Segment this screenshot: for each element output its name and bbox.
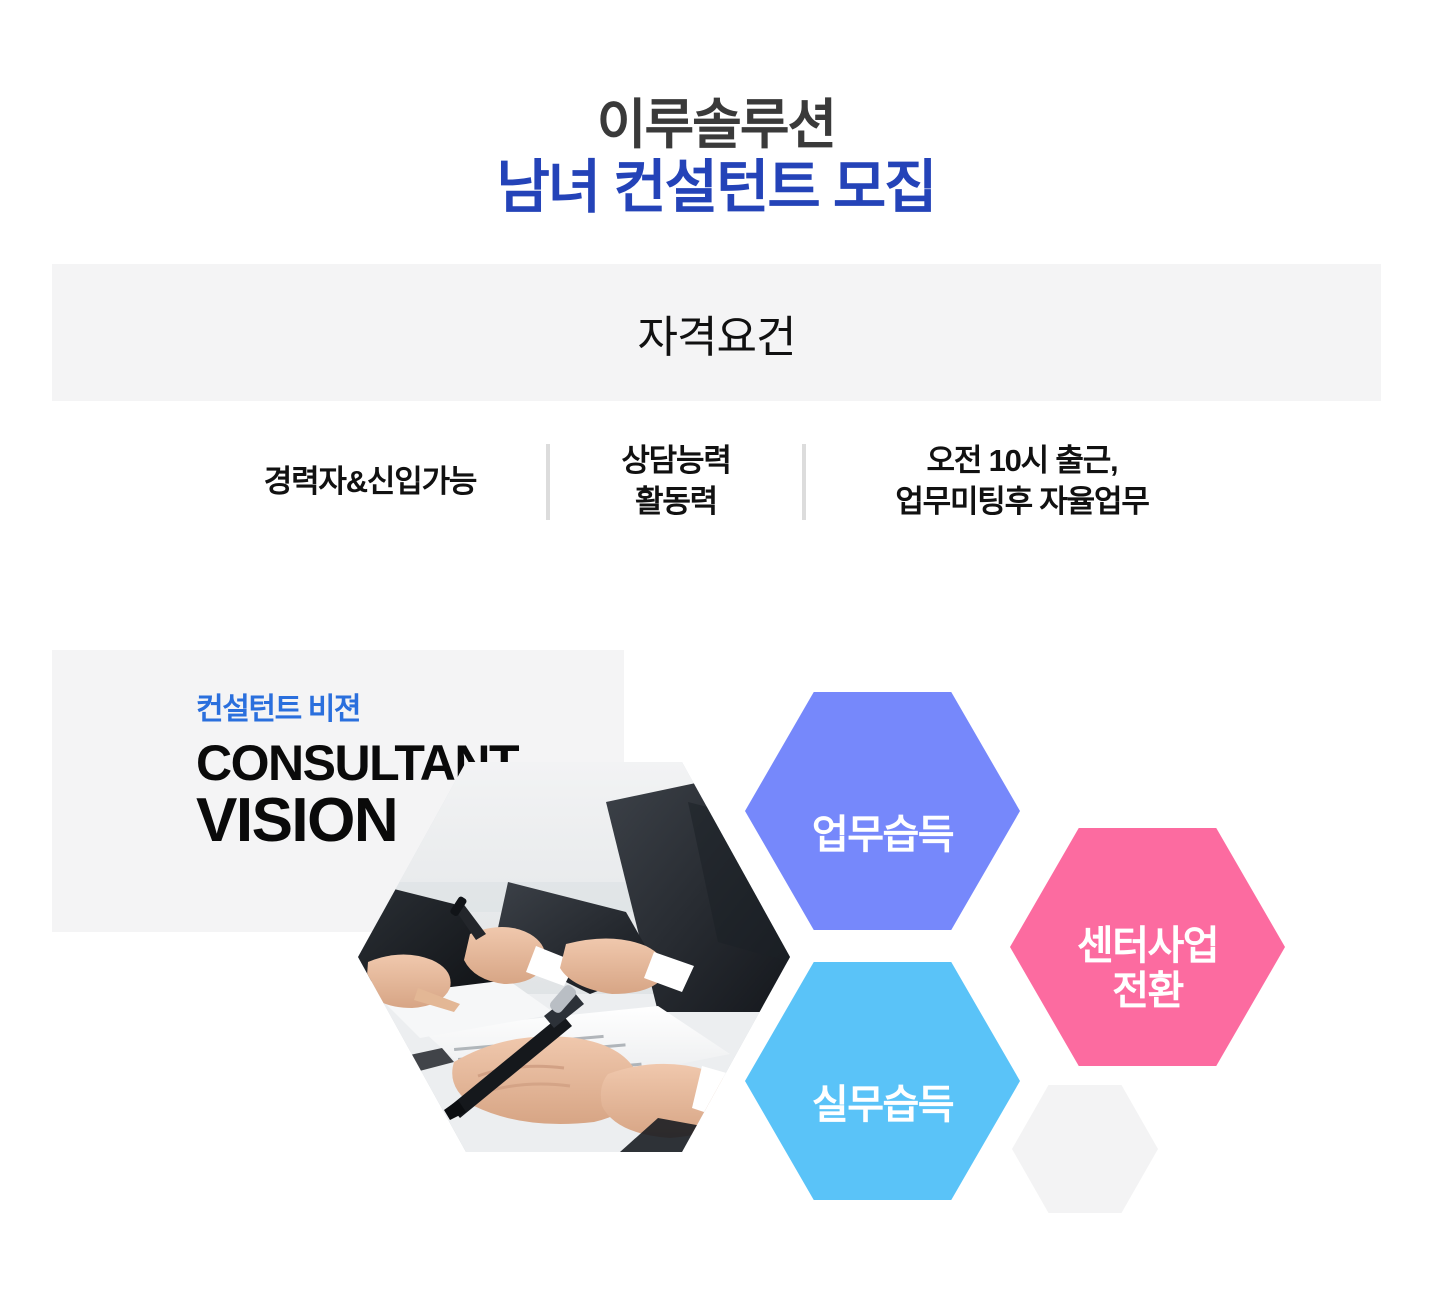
- hexagon-work-acquisition: 업무습득: [745, 692, 1020, 930]
- hexagon-label-center-business: 센터사업 전환: [1077, 924, 1218, 1014]
- qualification-item-counseling: 상담능력 활동력: [576, 441, 776, 523]
- hexagon-empty-placeholder: [1012, 1085, 1158, 1213]
- qualification-divider-1: [546, 444, 550, 520]
- qualification-divider-2: [802, 444, 806, 520]
- hexagon-center-business: 센터사업 전환: [1010, 828, 1285, 1066]
- qualification-item-list: 경력자&신입가능 상담능력 활동력 오전 10시 출근, 업무미팅후 자율업무: [0, 436, 1432, 528]
- qualification-item-schedule: 오전 10시 출근, 업무미팅후 자율업무: [832, 441, 1212, 523]
- qualification-item-experience: 경력자&신입가능: [220, 462, 520, 503]
- page-title: 남녀 컨설턴트 모집: [0, 154, 1432, 222]
- page-headline: 이루솔루션 남녀 컨설턴트 모집: [0, 96, 1432, 223]
- qualification-banner: 자격요건: [52, 264, 1381, 401]
- hexagon-label-work-acquisition: 업무습득: [812, 813, 953, 858]
- hexagon-label-practice-acquisition: 실무습득: [812, 1083, 953, 1128]
- hexagon-practice-acquisition: 실무습득: [745, 962, 1020, 1200]
- vision-korean-label: 컨설턴트 비젼: [196, 692, 716, 728]
- company-name: 이루솔루션: [0, 96, 1432, 154]
- qualification-banner-title: 자격요건: [638, 301, 796, 365]
